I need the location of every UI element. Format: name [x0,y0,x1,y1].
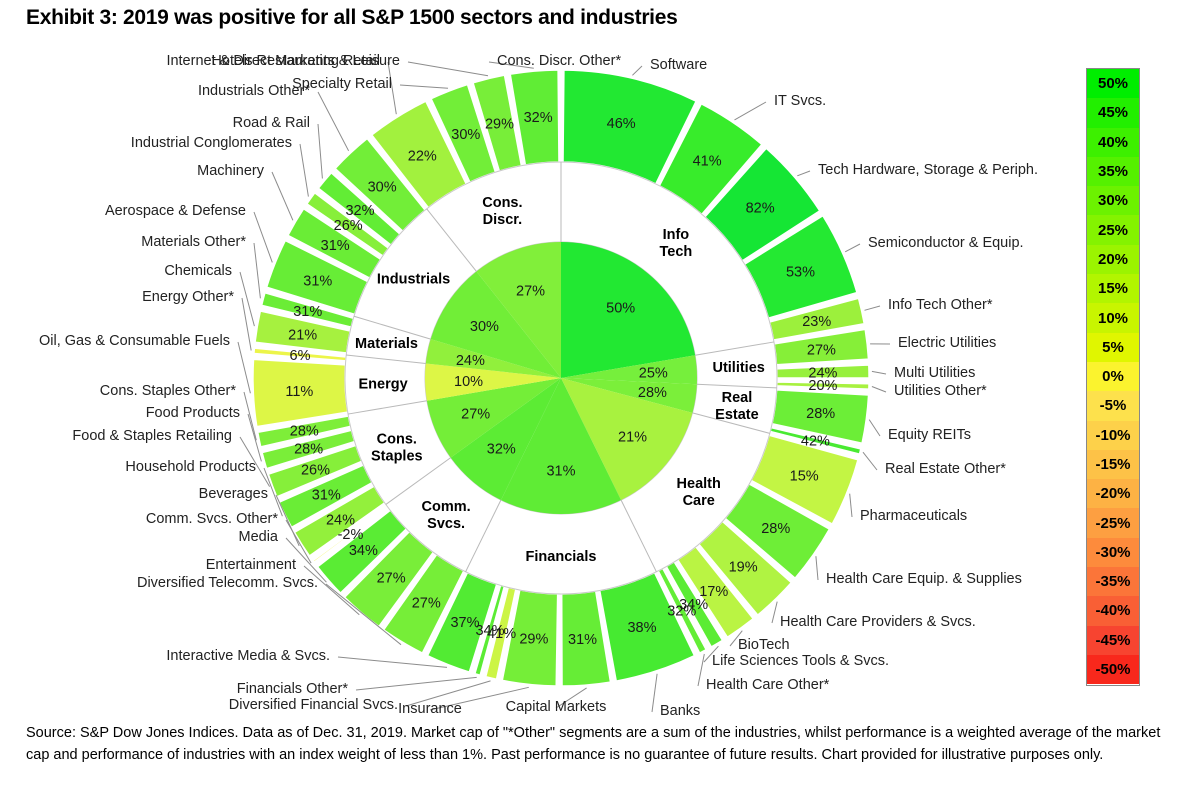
industry-value-label: 20% [808,378,837,394]
industry-name-label: Utilities Other* [894,383,987,399]
sector-name-label: Cons.Staples [371,432,423,465]
legend-cell: 15% [1087,274,1139,303]
sunburst-svg: 50%InfoTech46%41%82%53%23%25%Utilities27… [0,38,1070,718]
legend-cell: 0% [1087,362,1139,391]
industry-value-label: 53% [786,265,815,281]
sector-name-label: Industrials [377,271,450,287]
sector-divider [695,342,774,355]
industry-name-label: Info Tech Other* [888,297,993,313]
leader-line [254,212,272,262]
sector-name-label: RealEstate [715,390,759,423]
legend-cell: -20% [1087,479,1139,508]
industry-name-label: Financials Other* [237,681,349,697]
industry-value-label: 38% [627,620,656,636]
industry-value-label: 31% [321,238,350,254]
industry-name-label: Health Care Equip. & Supplies [826,571,1022,587]
industry-value-label: 34% [475,623,504,639]
legend-cell: 25% [1087,215,1139,244]
industry-name-label: Health Care Providers & Svcs. [780,614,976,630]
industry-value-label: 30% [451,127,480,143]
industry-value-label: 31% [568,632,597,648]
legend-cell: 40% [1087,128,1139,157]
sector-name-label: Cons.Discr. [482,195,522,228]
legend-cell: -15% [1087,450,1139,479]
industry-value-label: 28% [290,423,319,439]
leader-line [632,66,642,75]
legend-cell: 45% [1087,98,1139,127]
industry-name-label: Software [650,57,707,73]
legend-cell: 5% [1087,333,1139,362]
leader-line [652,674,657,712]
industry-value-label: 23% [802,314,831,330]
leader-line [872,387,886,393]
sector-value-label: 50% [606,300,635,316]
leader-line [772,602,777,623]
industry-name-label: Hotels Restaurants & Leisure [211,53,400,69]
industry-name-label: Media [239,529,279,545]
industry-name-label: Tech Hardware, Storage & Periph. [818,162,1038,178]
sector-name-label: Utilities [712,360,764,376]
leader-line [272,172,293,220]
industry-value-label: 42% [801,434,830,450]
industry-value-label: 30% [368,180,397,196]
industry-name-label: Banks [660,703,700,718]
sector-divider [697,384,777,388]
industry-name-label: Oil, Gas & Consumable Fuels [39,333,230,349]
sector-value-label: 27% [461,407,490,423]
industry-value-label: 27% [807,342,836,358]
industry-name-label: Comm. Svcs. Other* [146,511,278,527]
legend-cell: 30% [1087,186,1139,215]
industry-value-label: 34% [349,543,378,559]
industry-name-label: IT Svcs. [774,93,826,109]
leader-line [300,144,308,197]
industry-name-label: Chemicals [164,263,232,279]
sector-value-label: 27% [516,284,545,300]
industry-value-label: 32% [524,110,553,126]
industry-value-label: 31% [312,487,341,503]
leader-line [318,124,322,179]
industry-value-label: 82% [746,201,775,217]
industry-name-label: Electric Utilities [898,335,996,351]
leader-line [797,171,810,176]
industry-name-label: Capital Markets [506,699,607,715]
industry-value-label: 26% [301,463,330,479]
sector-value-label: 30% [470,319,499,335]
industry-name-label: Food & Staples Retailing [72,428,232,444]
industry-value-label: 46% [607,116,636,132]
legend-cell: 10% [1087,303,1139,332]
industry-name-label: Household Products [125,459,256,475]
industry-name-label: Food Products [146,405,240,421]
sector-name-label: Financials [526,549,597,565]
legend-cell: -25% [1087,508,1139,537]
legend-cell: 35% [1087,157,1139,186]
industry-value-label: 11% [285,384,313,400]
sunburst-chart: 50%InfoTech46%41%82%53%23%25%Utilities27… [0,38,1070,718]
industry-value-label: 32% [345,203,374,219]
leader-line [869,420,880,436]
industry-value-label: 28% [806,406,835,422]
leader-line [816,556,818,580]
industry-value-label: 6% [290,348,311,364]
industry-value-label: 29% [485,116,514,132]
industry-name-label: Multi Utilities [894,365,975,381]
industry-name-label: Interactive Media & Svcs. [166,648,330,664]
legend-cell: -40% [1087,596,1139,625]
industry-value-label: 28% [761,521,790,537]
leader-line [356,677,477,690]
industry-name-label: Insurance [398,701,462,717]
industry-value-label: 22% [408,149,437,165]
sector-name-label: Energy [358,376,407,392]
industry-value-label: 24% [326,512,355,528]
industry-name-label: Beverages [199,486,268,502]
leader-line [845,244,860,252]
sector-name-label: Materials [355,336,418,352]
leader-line [850,494,852,517]
legend-cell: -50% [1087,655,1139,684]
leader-line [338,657,447,667]
inner-pie-layer [345,162,777,594]
leader-line [735,102,767,120]
sector-name-label: Comm.Svcs. [422,499,471,532]
industry-value-label: 19% [729,559,758,575]
sector-name-label: HealthCare [677,476,721,509]
source-footnote: Source: S&P Dow Jones Indices. Data as o… [26,722,1186,766]
industry-value-label: 26% [334,218,363,234]
sector-value-label: 25% [639,365,668,381]
industry-name-label: Semiconductor & Equip. [868,235,1024,251]
legend-cell: -35% [1087,567,1139,596]
leader-line [863,452,877,470]
industry-name-label: Real Estate Other* [885,461,1006,477]
industry-value-label: 31% [303,274,332,290]
sector-value-label: 28% [638,385,667,401]
industry-value-label: 27% [412,596,441,612]
industry-value-label: 21% [288,327,317,343]
performance-color-legend: 50%45%40%35%30%25%20%15%10%5%0%-5%-10%-1… [1086,68,1140,686]
leader-line [238,342,250,393]
leader-line [698,654,704,686]
industry-name-label: Diversified Telecomm. Svcs. [137,575,318,591]
industry-name-label: Road & Rail [233,115,310,131]
leader-line [400,85,448,88]
sector-value-label: 21% [618,430,647,446]
industry-name-label: Diversified Financial Svcs. [229,697,398,713]
sector-divider [348,401,427,414]
leader-line [408,62,488,76]
industry-name-label: Energy Other* [142,289,234,305]
sector-divider [466,500,501,572]
legend-cell: -45% [1087,626,1139,655]
legend-cell: 20% [1087,245,1139,274]
industry-value-label: 15% [790,468,819,484]
legend-cell: -30% [1087,538,1139,567]
sector-value-label: 31% [546,463,575,479]
industry-value-label: 41% [693,154,722,170]
industry-name-label: Health Care Other* [706,677,830,693]
sector-value-label: 10% [454,374,483,390]
industry-name-label: Specialty Retail [292,76,392,92]
industry-name-label: Cons. Discr. Other* [497,53,621,69]
industry-value-label: 32% [667,604,696,620]
industry-name-label: Entertainment [206,557,296,573]
industry-name-label: Pharmaceuticals [860,508,967,524]
industry-name-label: Aerospace & Defense [105,203,246,219]
leader-line [865,306,881,310]
sector-name-label: InfoTech [659,227,692,260]
leader-line [318,92,349,151]
industry-name-label: Materials Other* [141,234,246,250]
industry-value-label: 29% [519,632,548,648]
industry-value-label: 31% [293,304,322,320]
industry-name-label: Life Sciences Tools & Svcs. [712,653,889,669]
industry-name-label: Equity REITs [888,427,971,443]
sector-divider [621,500,656,572]
sector-divider [346,355,426,364]
legend-cell: 50% [1087,69,1139,98]
industry-name-label: Industrial Conglomerates [131,135,292,151]
industry-name-label: BioTech [738,637,790,653]
legend-cell: -5% [1087,391,1139,420]
legend-cell: -10% [1087,421,1139,450]
industry-value-label: 37% [450,615,479,631]
industry-name-label: Machinery [197,163,265,179]
industry-value-label: 28% [294,441,323,457]
leader-line [872,371,886,374]
sector-divider [427,209,477,272]
page-title: Exhibit 3: 2019 was positive for all S&P… [26,6,677,30]
industry-value-label: 27% [377,570,406,586]
sector-value-label: 32% [487,442,516,458]
leader-line [242,298,251,351]
industry-value-label: -2% [338,527,364,543]
leader-line [254,243,260,298]
sector-value-label: 24% [456,353,485,369]
industry-name-label: Cons. Staples Other* [100,383,237,399]
